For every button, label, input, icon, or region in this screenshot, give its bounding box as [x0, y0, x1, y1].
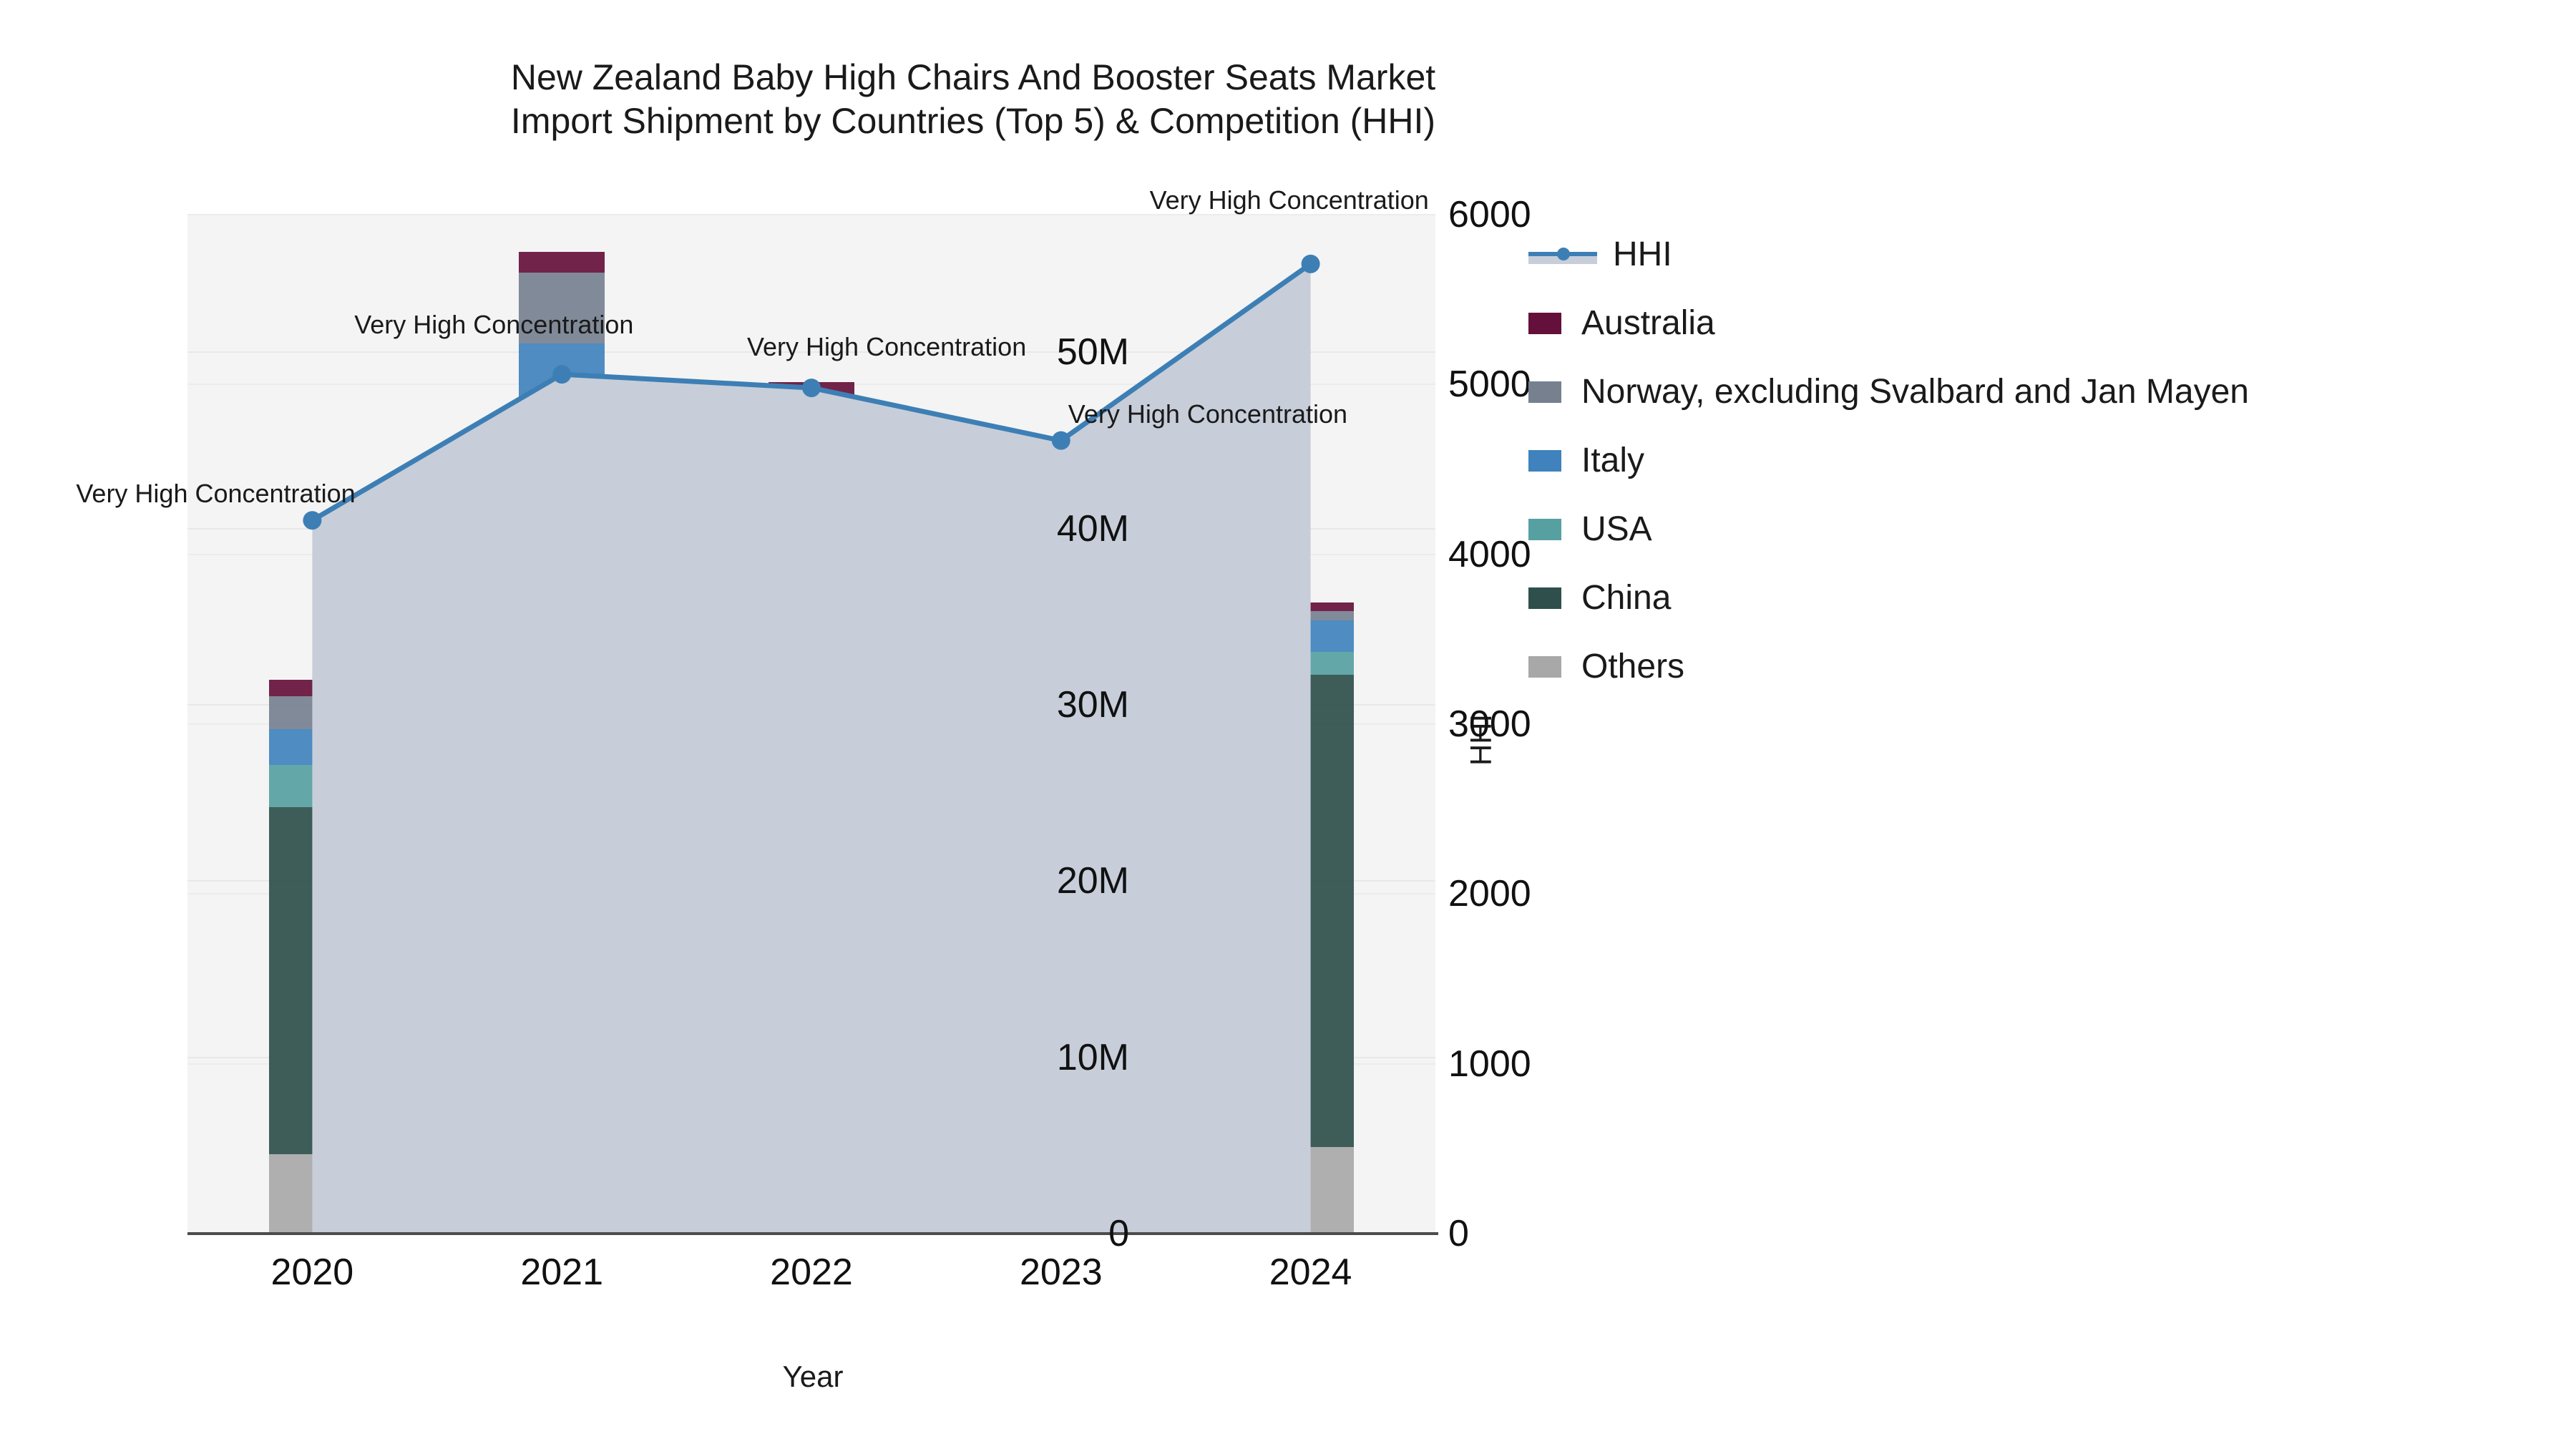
legend-item-china[interactable]: China	[1528, 574, 2559, 623]
chart-title-line1: New Zealand Baby High Chairs And Booster…	[0, 56, 1946, 99]
annotation-very-high-concentration: Very High Concentration	[1150, 185, 1429, 215]
annotation-very-high-concentration: Very High Concentration	[76, 479, 355, 509]
chart-title: New Zealand Baby High Chairs And Booster…	[0, 56, 1946, 143]
legend: HHIAustraliaNorway, excluding Svalbard a…	[1528, 230, 2559, 711]
legend-label: Norway, excluding Svalbard and Jan Mayen	[1581, 375, 2249, 409]
x-axis-label: Year	[187, 1360, 1438, 1394]
legend-label: Australia	[1581, 306, 1715, 341]
legend-line-marker-icon	[1528, 245, 1597, 264]
chart-canvas: New Zealand Baby High Chairs And Booster…	[0, 0, 2576, 1449]
annotation-very-high-concentration: Very High Concentration	[747, 332, 1026, 362]
legend-swatch-icon	[1528, 313, 1561, 334]
legend-item-australia[interactable]: Australia	[1528, 299, 2559, 348]
hhi-line-markers	[187, 215, 1435, 1234]
x-tick-2021: 2021	[469, 1251, 655, 1294]
y-tick-left: 40M	[843, 510, 1129, 547]
hhi-data-point[interactable]	[802, 379, 821, 397]
x-tick-2024: 2024	[1218, 1251, 1404, 1294]
annotation-very-high-concentration: Very High Concentration	[1068, 399, 1347, 429]
y-tick-right: 6000	[1448, 196, 1735, 233]
legend-swatch-icon	[1528, 656, 1561, 678]
legend-label: China	[1581, 581, 1671, 615]
legend-swatch-icon	[1528, 450, 1561, 472]
x-tick-2023: 2023	[968, 1251, 1154, 1294]
y-tick-left: 0	[843, 1215, 1129, 1252]
x-tick-2022: 2022	[718, 1251, 904, 1294]
legend-item-others[interactable]: Others	[1528, 643, 2559, 691]
legend-item-hhi[interactable]: HHI	[1528, 230, 2559, 279]
plot-area	[187, 215, 1435, 1234]
chart-title-line2: Import Shipment by Countries (Top 5) & C…	[0, 99, 1946, 143]
legend-label: HHI	[1613, 238, 1672, 272]
legend-swatch-icon	[1528, 587, 1561, 609]
annotation-very-high-concentration: Very High Concentration	[354, 310, 633, 340]
hhi-data-point[interactable]	[1302, 255, 1320, 273]
y-tick-right: 1000	[1448, 1045, 1735, 1083]
legend-label: Italy	[1581, 444, 1644, 478]
legend-item-norway-excluding-svalbard-and-jan-mayen[interactable]: Norway, excluding Svalbard and Jan Mayen	[1528, 368, 2559, 416]
legend-swatch-icon	[1528, 381, 1561, 403]
legend-item-italy[interactable]: Italy	[1528, 436, 2559, 485]
hhi-data-point[interactable]	[303, 511, 321, 530]
x-tick-2020: 2020	[219, 1251, 405, 1294]
legend-swatch-icon	[1528, 519, 1561, 540]
y-tick-right: 0	[1448, 1215, 1735, 1252]
y-tick-right: 2000	[1448, 875, 1735, 912]
y-tick-left: 20M	[843, 862, 1129, 899]
legend-label: Others	[1581, 650, 1684, 684]
y-tick-left: 30M	[843, 686, 1129, 723]
y-tick-left: 10M	[843, 1039, 1129, 1076]
x-axis-line	[187, 1232, 1438, 1235]
hhi-data-point[interactable]	[1052, 431, 1070, 450]
hhi-data-point[interactable]	[552, 365, 571, 384]
legend-label: USA	[1581, 512, 1652, 547]
legend-item-usa[interactable]: USA	[1528, 505, 2559, 554]
